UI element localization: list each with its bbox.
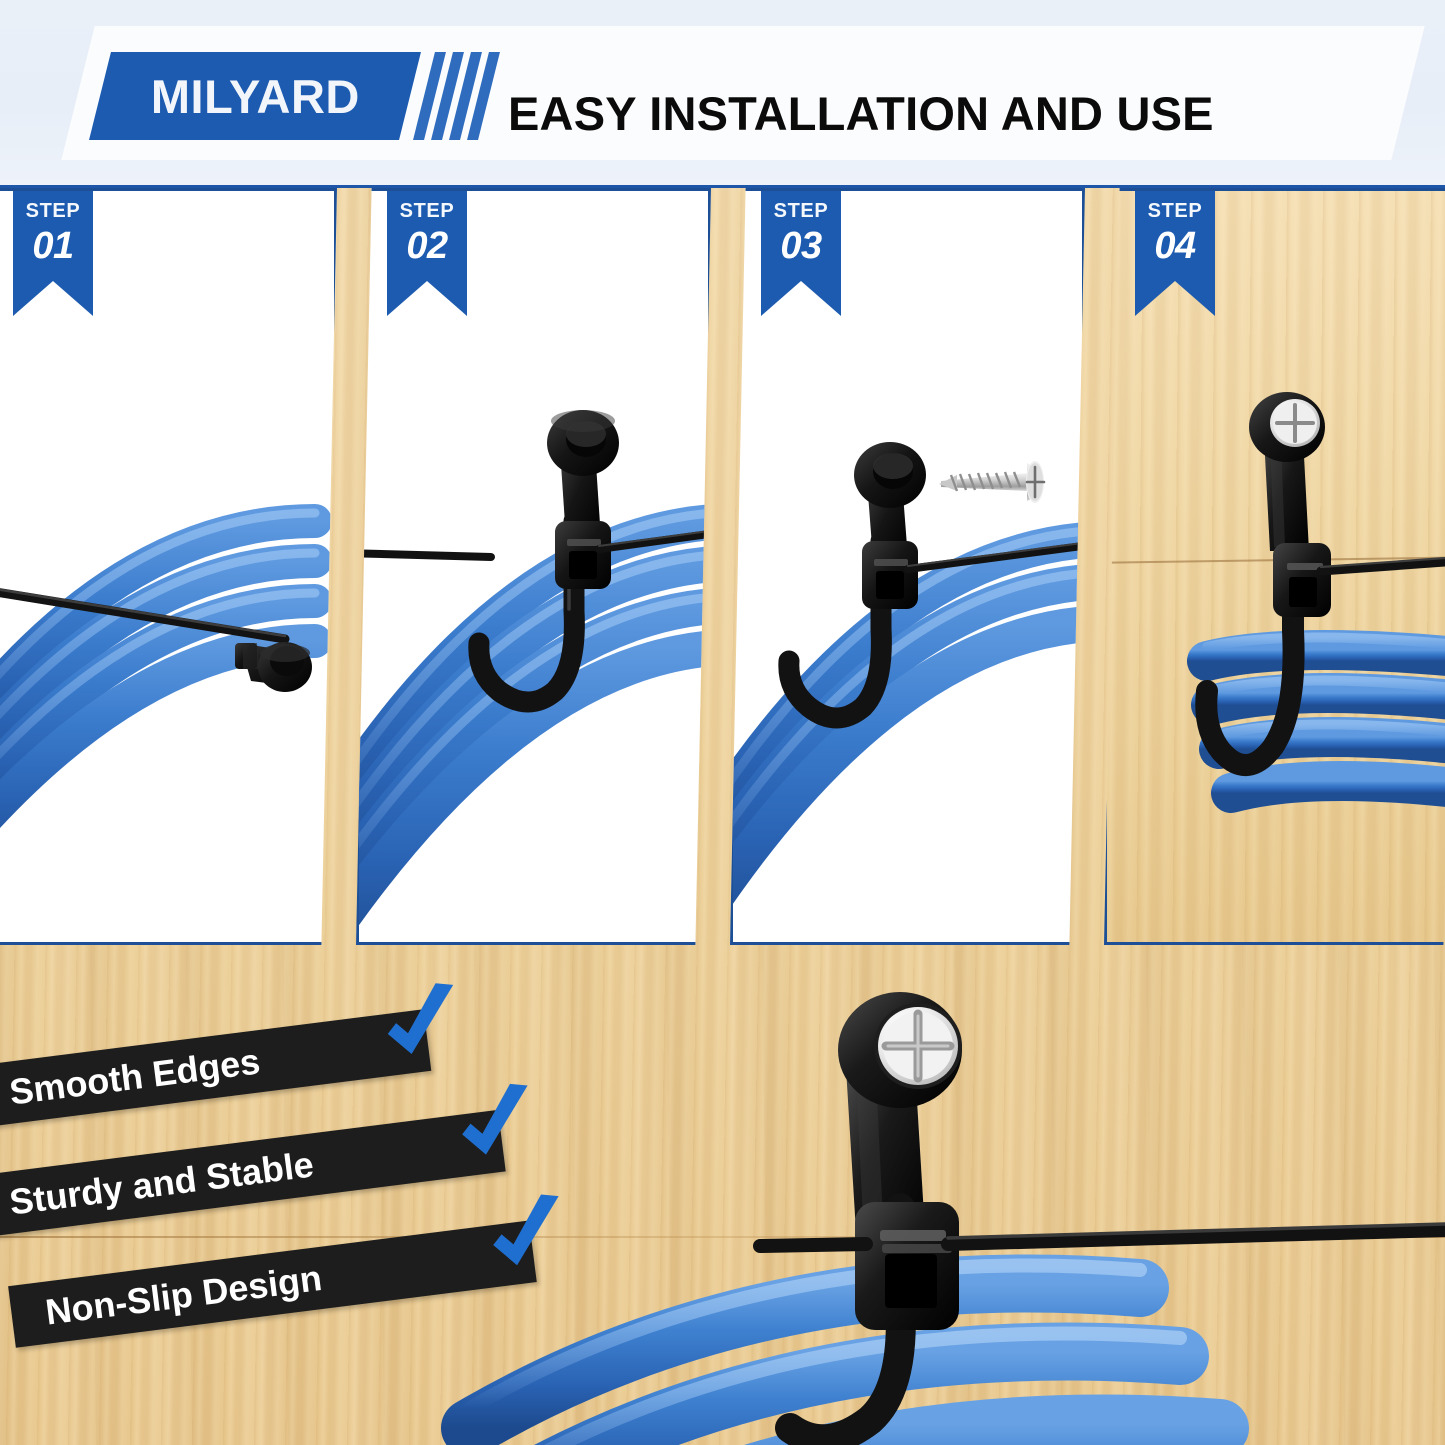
step-ribbon-number: 02	[406, 227, 447, 265]
step-ribbon-label: STEP	[774, 201, 829, 221]
brand-logo: MILYARD	[89, 52, 421, 140]
mount-head	[235, 642, 312, 692]
step-ribbon-number: 03	[780, 227, 821, 265]
hero-section: Smooth Edges Sturdy and Stable Non-Slip …	[0, 958, 1445, 1445]
check-icon	[368, 974, 475, 1081]
phillips-screw	[939, 461, 1044, 503]
blue-cable-coils	[470, 1265, 1220, 1445]
cable-tie-stub	[359, 553, 491, 557]
step-panel-01: STEP 01	[0, 188, 337, 945]
step-panel-03-art	[733, 191, 1082, 942]
step-panel-02-art	[359, 191, 708, 942]
tie-latch	[1273, 543, 1331, 617]
step-02-illustration	[359, 191, 708, 942]
tie-latch	[555, 521, 611, 589]
brand-logo-text: MILYARD	[151, 69, 360, 124]
tie-latch	[855, 1202, 959, 1330]
blue-cable-bundle	[0, 513, 315, 865]
step-ribbon-number: 01	[32, 227, 73, 265]
step-01-illustration	[0, 191, 334, 942]
steps-strip: STEP 01	[0, 188, 1445, 958]
step-ribbon-label: STEP	[1148, 201, 1203, 221]
step-panel-02: STEP 02	[356, 188, 711, 945]
header-bar: MILYARD EASY INSTALLATION AND USE	[0, 0, 1445, 188]
blue-cable-bundle	[359, 512, 708, 942]
step-04-illustration	[1107, 191, 1445, 942]
step-03-illustration	[733, 191, 1082, 942]
step-panel-04-art	[1107, 191, 1445, 942]
step-panel-04: STEP 04	[1104, 188, 1445, 945]
phillips-screw-head	[1270, 399, 1320, 447]
check-icon	[474, 1185, 581, 1292]
check-icon	[443, 1075, 550, 1182]
step-ribbon-label: STEP	[26, 201, 81, 221]
tie-latch	[862, 541, 918, 609]
step-panel-03: STEP 03	[730, 188, 1085, 945]
phillips-screw-head	[874, 1003, 962, 1089]
mount-head-eyelet	[547, 410, 619, 539]
step-ribbon-number: 04	[1154, 227, 1195, 265]
step-ribbon-label: STEP	[400, 201, 455, 221]
step-panel-01-art	[0, 191, 334, 942]
header-title: EASY INSTALLATION AND USE	[508, 86, 1214, 141]
infographic-canvas: MILYARD EASY INSTALLATION AND USE	[0, 0, 1445, 1445]
